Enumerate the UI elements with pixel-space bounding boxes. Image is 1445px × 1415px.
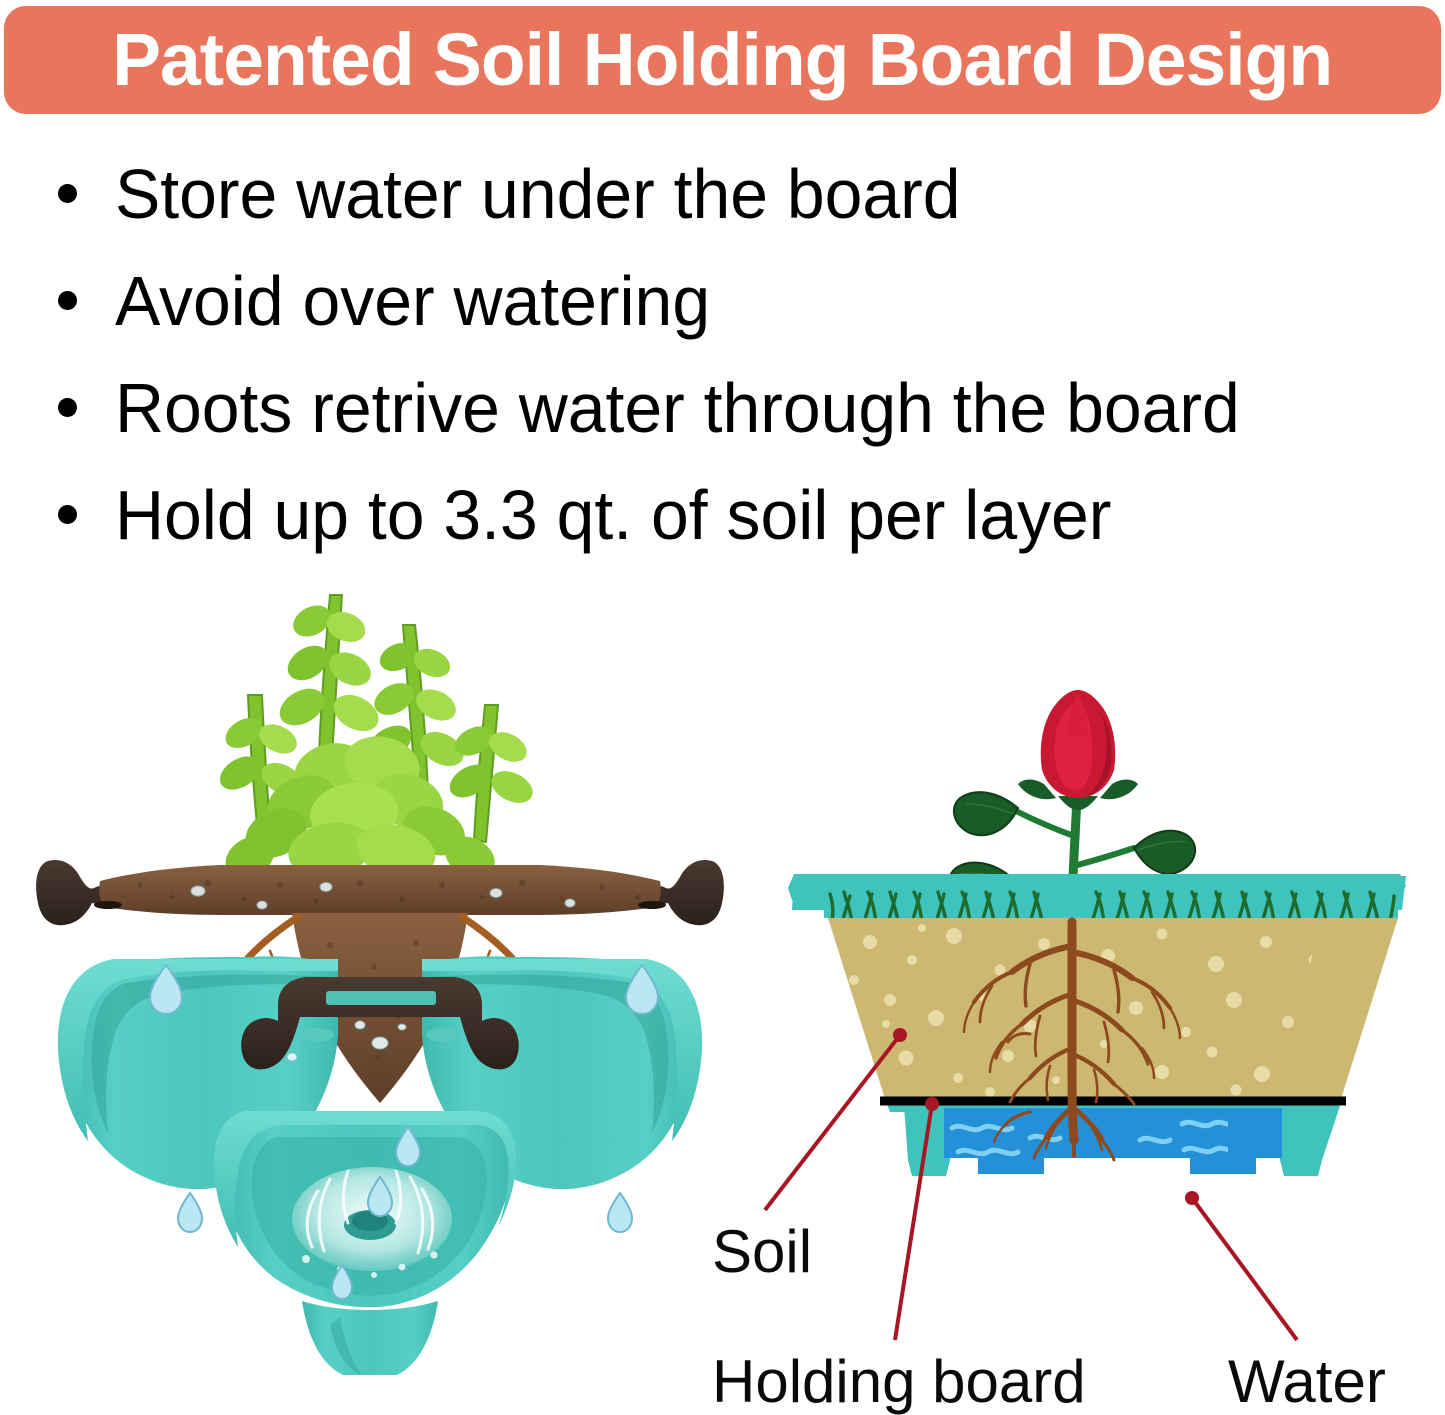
feature-text: Roots retrive water through the board bbox=[115, 373, 1240, 443]
rose-bud bbox=[1018, 690, 1138, 810]
label-soil: Soil bbox=[712, 1222, 812, 1282]
feature-item: Store water under the board bbox=[0, 140, 1445, 247]
bullet-icon bbox=[58, 505, 77, 524]
bullet-icon bbox=[58, 184, 77, 203]
feature-text: Hold up to 3.3 qt. of soil per layer bbox=[115, 480, 1111, 550]
product-photo bbox=[30, 565, 730, 1375]
cross-section-diagram bbox=[700, 660, 1445, 1280]
feature-list: Store water under the board Avoid over w… bbox=[0, 140, 1445, 568]
feature-text: Store water under the board bbox=[115, 159, 961, 229]
header-banner: Patented Soil Holding Board Design bbox=[4, 6, 1441, 114]
bullet-icon bbox=[58, 398, 77, 417]
feature-item: Hold up to 3.3 qt. of soil per layer bbox=[0, 461, 1445, 568]
feature-item: Roots retrive water through the board bbox=[0, 354, 1445, 461]
page-title: Patented Soil Holding Board Design bbox=[113, 23, 1333, 97]
soil-layer bbox=[828, 918, 1398, 1102]
feature-text: Avoid over watering bbox=[115, 266, 710, 336]
grass-layer bbox=[824, 892, 1398, 922]
label-water: Water bbox=[1228, 1352, 1386, 1412]
feature-item: Avoid over watering bbox=[0, 247, 1445, 354]
bullet-icon bbox=[58, 291, 77, 310]
plant-foliage bbox=[214, 595, 538, 886]
label-holding-board: Holding board bbox=[712, 1352, 1086, 1412]
